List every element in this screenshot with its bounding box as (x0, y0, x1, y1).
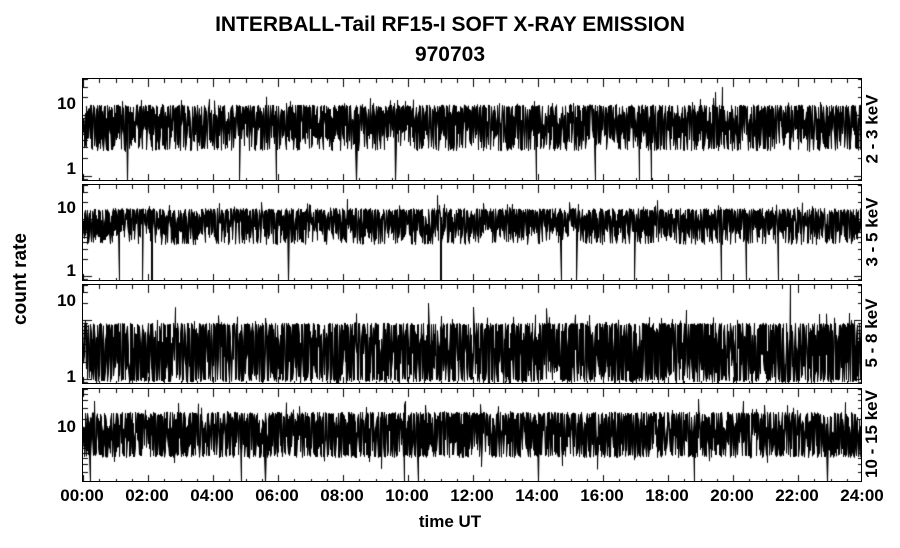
y-tick-label: 10 (57, 418, 76, 435)
trace-canvas-3-5-kev (83, 185, 862, 281)
y-tick-label: 1 (67, 160, 76, 177)
x-tick-label: 06:00 (255, 486, 298, 506)
x-tick-label: 10:00 (385, 486, 428, 506)
x-tick-label: 12:00 (450, 486, 493, 506)
x-tick-label: 20:00 (710, 486, 753, 506)
x-axis-tick-labels: 00:0002:0004:0006:0008:0010:0012:0014:00… (0, 486, 900, 510)
x-tick-label: 24:00 (840, 486, 883, 506)
panel-10-15-kev (82, 388, 862, 482)
y-tick-label: 10 (57, 95, 76, 112)
x-tick-label: 00:00 (60, 486, 103, 506)
x-tick-label: 18:00 (645, 486, 688, 506)
y-tick-label: 10 (57, 199, 76, 216)
x-tick-label: 14:00 (515, 486, 558, 506)
x-tick-label: 02:00 (125, 486, 168, 506)
panel-2-3-kev (82, 78, 862, 181)
y-tick-label: 10 (57, 292, 76, 309)
y-tick-label: 1 (67, 262, 76, 279)
x-tick-label: 22:00 (775, 486, 818, 506)
trace-canvas-2-3-kev (83, 79, 862, 181)
title-block: INTERBALL-Tail RF15-I SOFT X-RAY EMISSIO… (0, 10, 900, 70)
y-axis-tick-labels: 10 1 10 1 10 1 10 (18, 0, 76, 548)
x-tick-label: 08:00 (320, 486, 363, 506)
page-title: INTERBALL-Tail RF15-I SOFT X-RAY EMISSIO… (0, 10, 900, 40)
trace-canvas-5-8-kev (83, 285, 862, 384)
trace-canvas-10-15-kev (83, 389, 862, 482)
panel-3-5-kev (82, 184, 862, 281)
x-tick-label: 16:00 (580, 486, 623, 506)
figure-root: INTERBALL-Tail RF15-I SOFT X-RAY EMISSIO… (0, 0, 900, 548)
x-axis-title: time UT (0, 512, 900, 532)
y-tick-label: 1 (67, 368, 76, 385)
plot-area (82, 78, 862, 482)
panel-5-8-kev (82, 284, 862, 384)
x-tick-label: 04:00 (190, 486, 233, 506)
page-subtitle: 970703 (0, 40, 900, 70)
